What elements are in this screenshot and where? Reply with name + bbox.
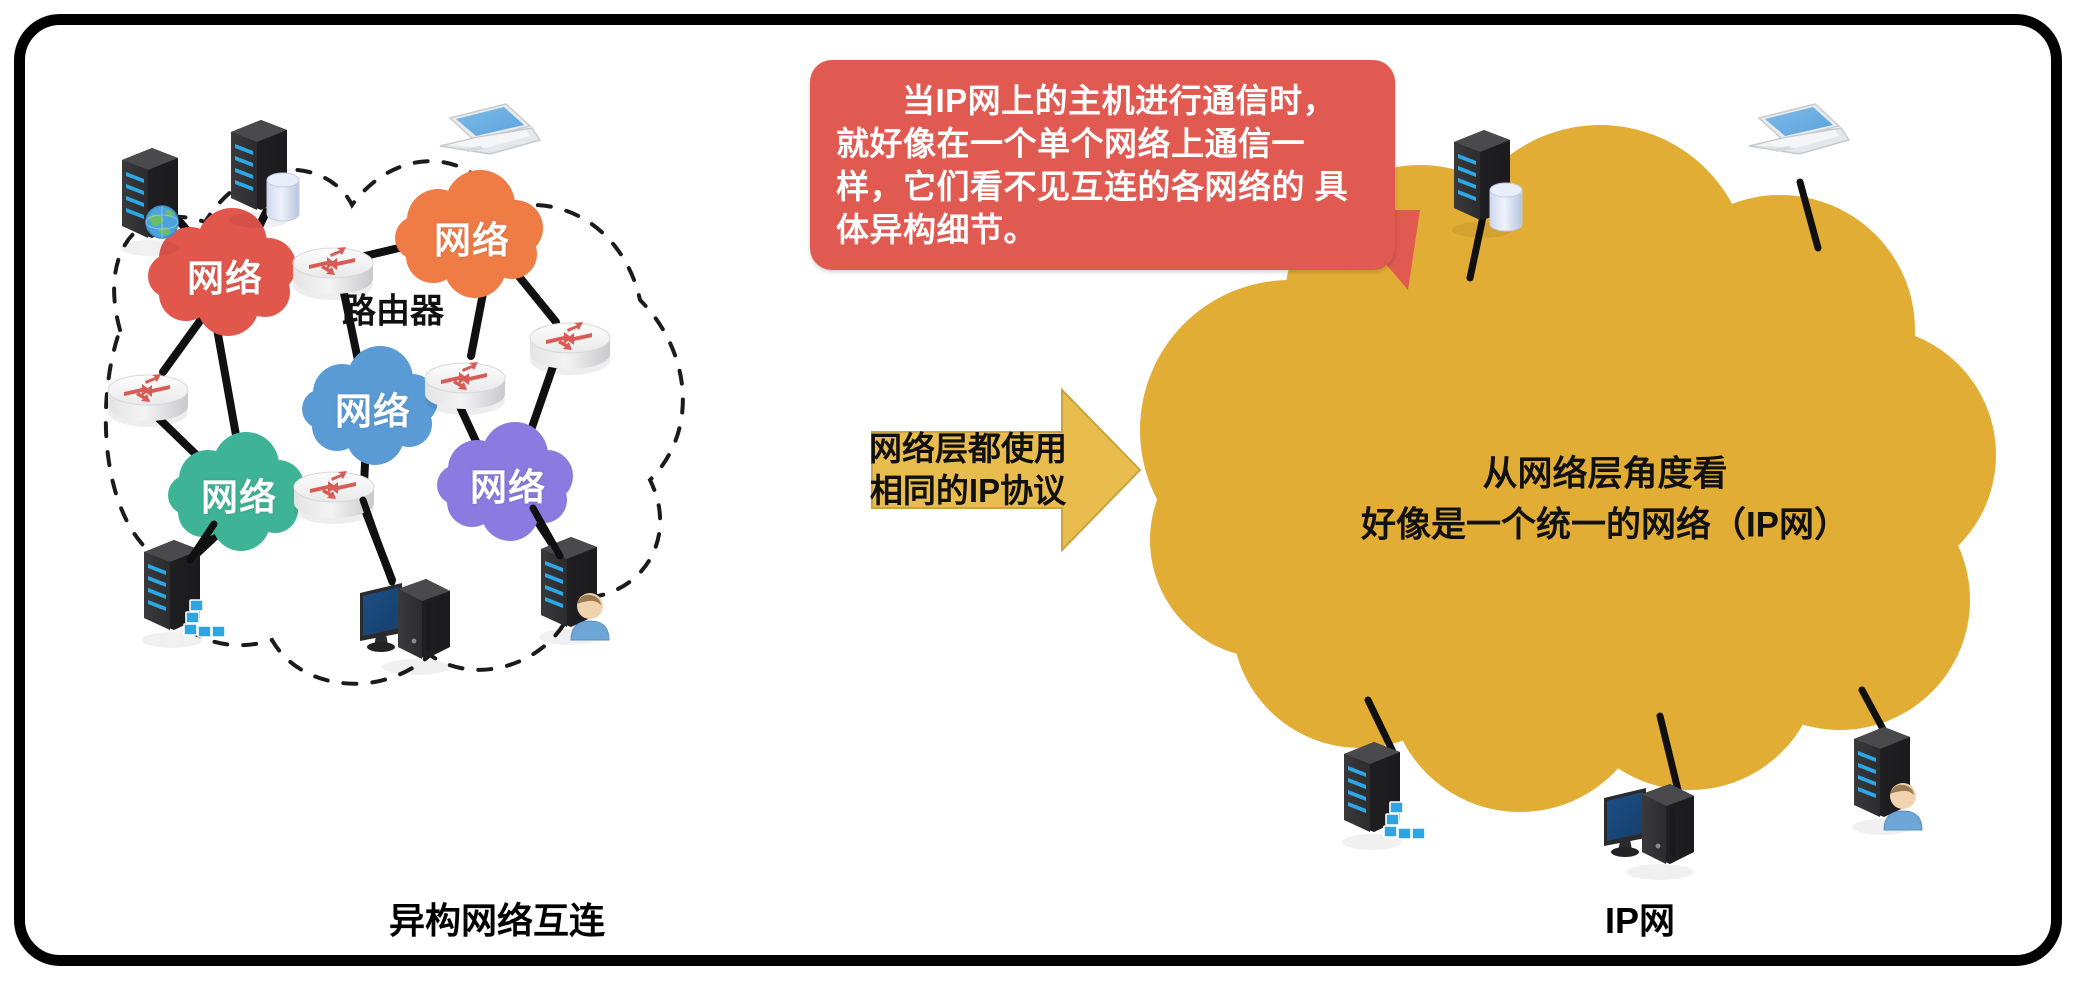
callout-bubble: 当IP网上的主机进行通信时， 就好像在一个单个网络上通信一 样，它们看不见互连的… (810, 60, 1395, 270)
desktop-pc-icon (1604, 784, 1694, 880)
server-media-icon (1342, 742, 1425, 850)
caption-left: 异构网络互连 (389, 892, 605, 944)
desktop-pc-icon (360, 579, 450, 675)
ip-cloud-line-2: 好像是一个统一的网络（IP网） (1361, 500, 1849, 551)
laptop-icon (1749, 104, 1849, 154)
arrow-label-line-1: 网络层都使用 (869, 428, 1067, 470)
callout-text: 当IP网上的主机进行通信时， 就好像在一个单个网络上通信一 样，它们看不见互连的… (810, 60, 1395, 270)
ip-cloud-label: 从网络层角度看 好像是一个统一的网络（IP网） (1361, 449, 1849, 551)
ip-cloud-line-1: 从网络层角度看 (1361, 449, 1849, 500)
router-label: 路由器 (342, 284, 444, 333)
callout-line-3: 样，它们看不见互连的各网络的 (836, 168, 1305, 205)
arrow-label: 网络层都使用 相同的IP协议 (869, 428, 1067, 512)
server-media-icon (142, 540, 225, 648)
cloud-label-blue: 网络 (335, 381, 411, 435)
cloud-label-red: 网络 (187, 248, 263, 302)
laptop-icon (440, 104, 540, 154)
cloud-label-purple: 网络 (470, 457, 546, 511)
server-user-icon (539, 537, 609, 645)
server-user-icon (1852, 727, 1922, 835)
arrow-label-line-2: 相同的IP协议 (869, 470, 1067, 512)
cloud-label-green: 网络 (201, 467, 277, 521)
caption-right: IP网 (1605, 892, 1675, 944)
figure-canvas: 网络 网络 网络 网络 网络 路由器 当IP网上的主机进行通信时， 就好像在一个… (0, 0, 2090, 988)
callout-line-1: 当IP网上的主机进行通信时， (836, 80, 1369, 123)
callout-line-2: 就好像在一个单个网络上通信一 (836, 125, 1305, 162)
cloud-label-orange: 网络 (434, 210, 510, 264)
